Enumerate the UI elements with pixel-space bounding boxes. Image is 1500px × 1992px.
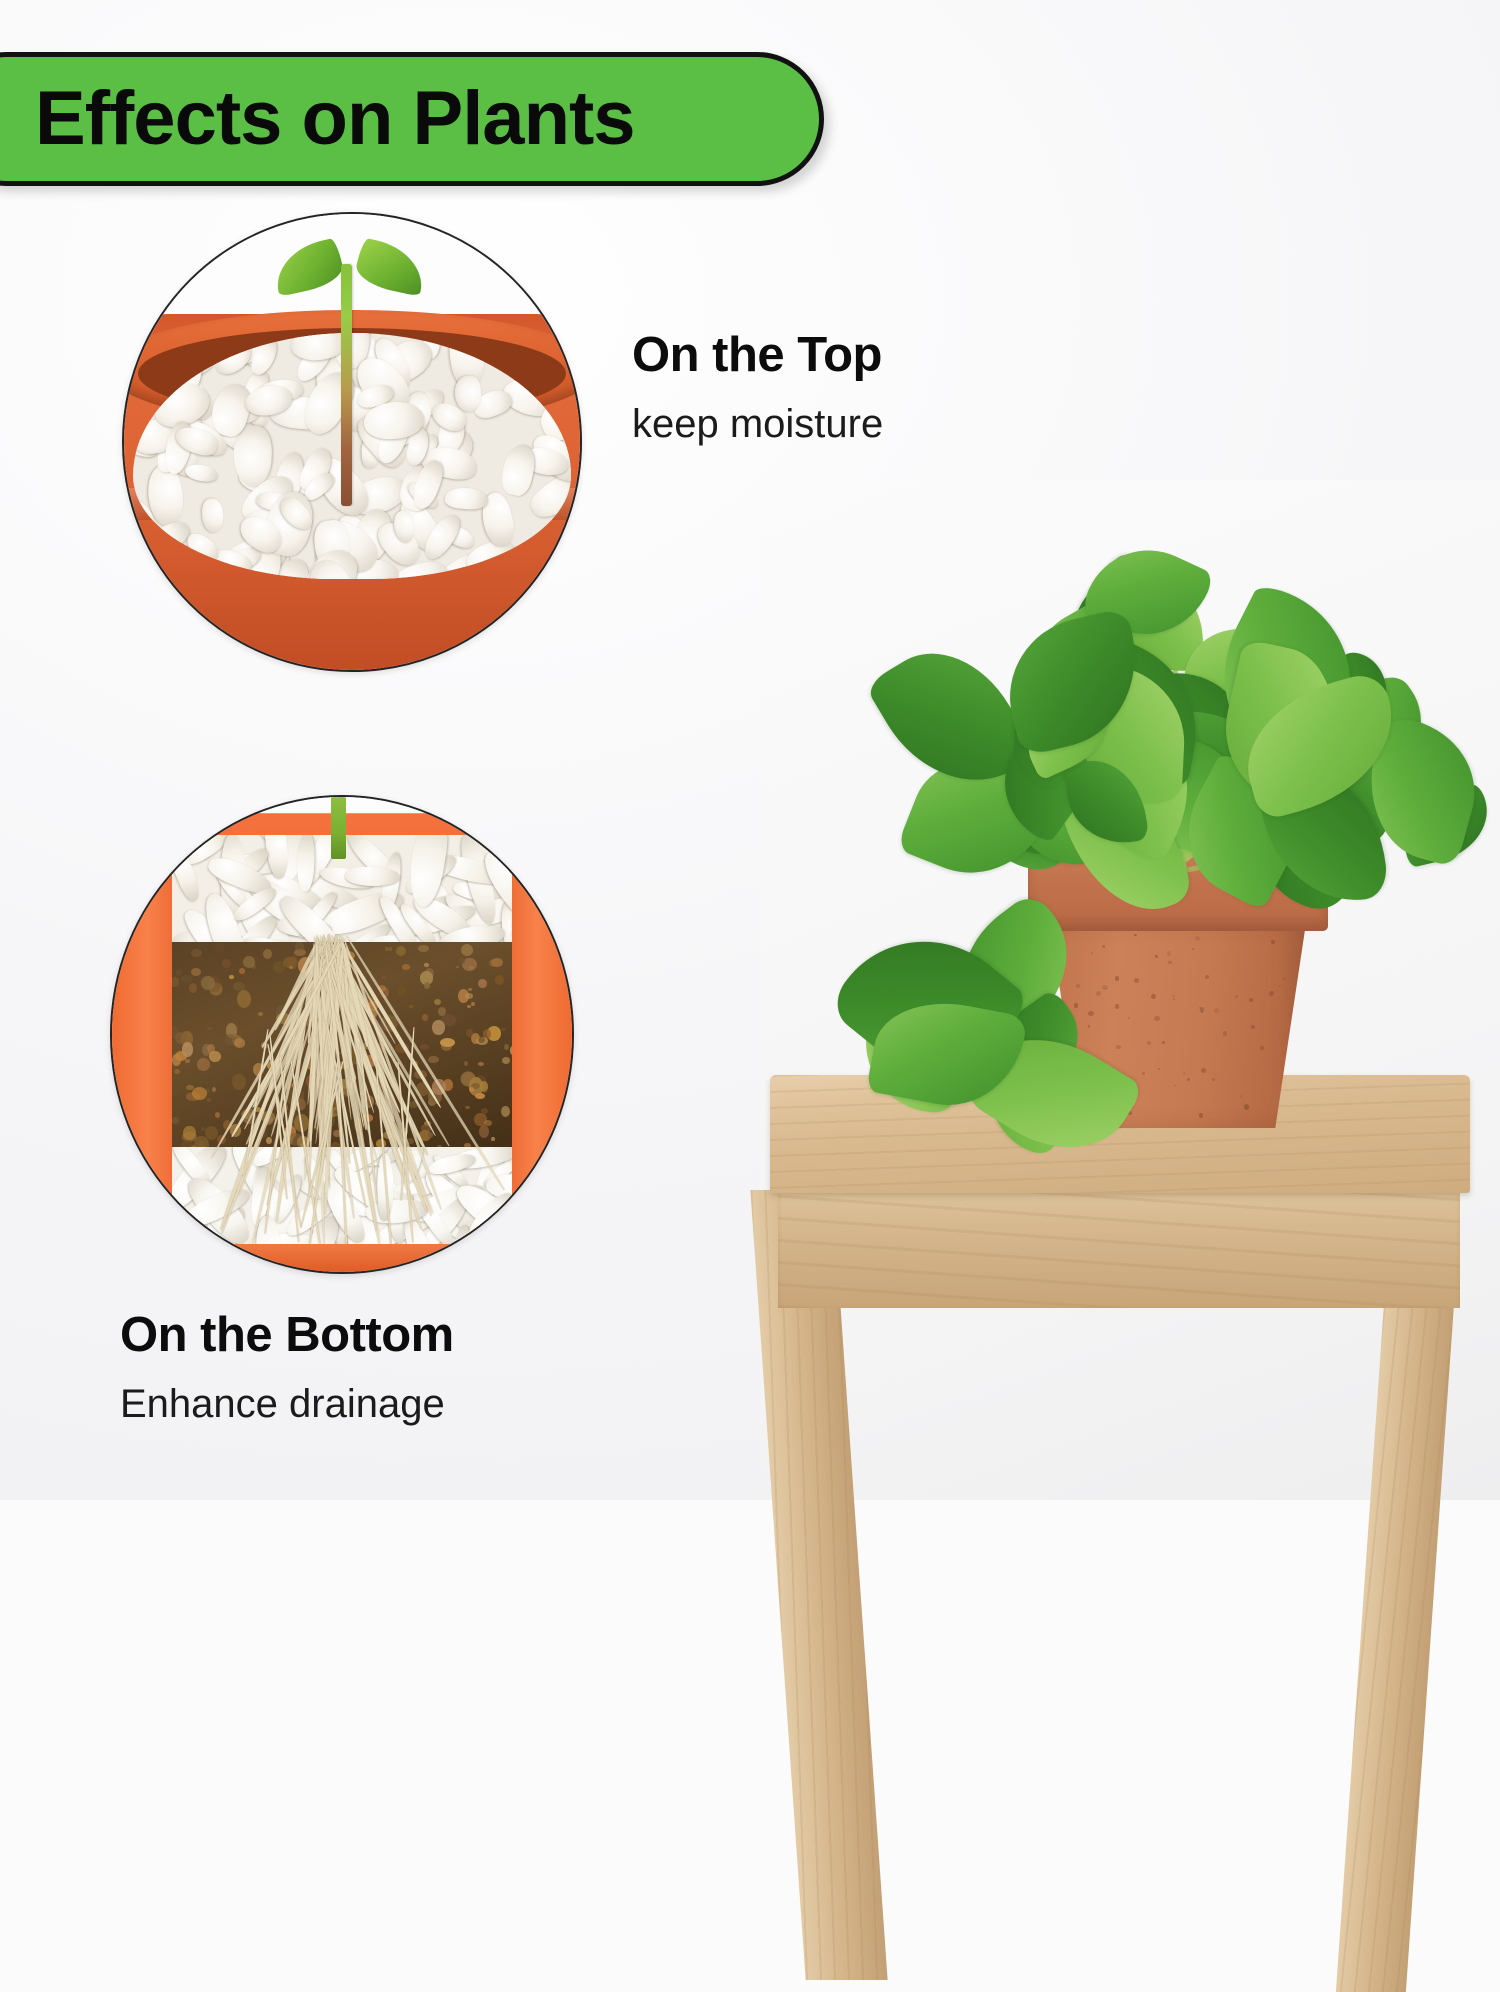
banner-label: Effects on Plants	[35, 81, 635, 157]
stool-apron	[778, 1190, 1460, 1308]
soil-grain	[215, 1112, 220, 1118]
soil-grain	[491, 1137, 494, 1141]
pot-speck	[1183, 1072, 1186, 1075]
soil-grain	[418, 945, 428, 952]
soil-grain	[185, 1059, 189, 1063]
pot-speck	[1201, 1068, 1206, 1073]
soil-grain	[197, 1058, 209, 1071]
soil-grain	[229, 975, 233, 979]
pot-speck	[1155, 955, 1158, 958]
caption-bottom-subtitle: Enhance drainage	[120, 1383, 454, 1425]
pot-speck	[1279, 985, 1281, 987]
soil-grain	[182, 1042, 193, 1056]
soil-grain	[458, 989, 469, 1003]
pot-speck	[1281, 1095, 1285, 1099]
pot-speck	[1283, 977, 1286, 980]
soil-grain	[191, 968, 201, 977]
pot-speck	[1134, 934, 1136, 936]
pot-speck	[1214, 1008, 1219, 1013]
soil-grain	[502, 1057, 510, 1064]
soil-grain	[501, 1106, 510, 1117]
pot-speck	[1240, 1095, 1242, 1097]
pot-speck	[1260, 1046, 1264, 1050]
pot-speck	[1212, 1078, 1215, 1081]
soil-grain	[239, 968, 244, 974]
soil-grain	[481, 1108, 489, 1115]
soil-grain	[189, 983, 198, 993]
pot-speck	[1102, 985, 1107, 990]
pebble	[524, 338, 544, 379]
caption-top: On the Top keep moisture	[632, 330, 883, 445]
soil-grain	[491, 958, 503, 967]
pot-speck	[1116, 1045, 1121, 1050]
soil-grain	[174, 1069, 180, 1074]
soil-grain	[243, 956, 255, 968]
soil-grain	[172, 1117, 179, 1123]
photo-pot-with-pebbles-on-top	[122, 212, 582, 672]
soil-grain	[258, 1012, 263, 1016]
soil-grain	[172, 1087, 180, 1094]
pot-speck	[1192, 948, 1194, 950]
pot-speck	[1251, 1025, 1256, 1030]
pot-speck	[1142, 1072, 1145, 1075]
pot-speck	[1115, 976, 1119, 980]
photo-plant-on-stool	[760, 480, 1500, 1500]
soil-grain	[263, 949, 271, 959]
pot-speck	[1223, 1031, 1227, 1035]
caption-bottom-title: On the Bottom	[120, 1310, 454, 1361]
soil-grain	[233, 982, 245, 991]
soil-grain	[385, 947, 390, 951]
soil-grain	[183, 1126, 195, 1140]
soil-grain	[420, 1044, 429, 1050]
soil-grain	[469, 1087, 473, 1092]
soil-grain	[295, 942, 304, 950]
soil-grain	[212, 1087, 216, 1092]
soil-grain	[424, 982, 430, 988]
pot-speck	[1154, 1016, 1159, 1021]
pot-speck	[1088, 1011, 1093, 1016]
soil-grain	[397, 986, 406, 996]
pot-speck	[1269, 991, 1274, 996]
pot-speck	[1115, 1004, 1120, 1009]
pot-speck	[1174, 1085, 1176, 1087]
pot-speck	[1158, 1068, 1160, 1070]
pot-speck	[1285, 1082, 1287, 1084]
pot-base	[112, 1244, 572, 1273]
pot-speck	[1187, 1078, 1190, 1081]
pot-speck	[1128, 1017, 1130, 1019]
soil-grain	[475, 1093, 485, 1100]
pot-speck	[1091, 952, 1093, 954]
pot-speck	[1162, 1041, 1165, 1044]
pot-speck	[1096, 991, 1101, 996]
pebble	[184, 461, 220, 483]
soil-grain	[201, 976, 215, 990]
soil-grain	[266, 1137, 272, 1144]
soil-grain	[471, 1002, 475, 1006]
soil-grain	[501, 1028, 506, 1031]
pot-speck	[1205, 975, 1209, 979]
soil-grain	[504, 1044, 509, 1050]
soil-grain	[222, 959, 232, 968]
pot-speck	[1147, 1041, 1151, 1045]
caption-top-subtitle: keep moisture	[632, 403, 883, 445]
pot-speck	[1168, 961, 1171, 964]
soil-grain	[464, 1061, 468, 1066]
soil-grain	[456, 966, 459, 969]
pot-speck	[1249, 998, 1253, 1002]
soil-grain	[483, 1090, 487, 1093]
soil-grain	[181, 975, 193, 983]
pebble	[202, 499, 224, 533]
pot-speck	[1201, 1011, 1203, 1013]
soil-grain	[478, 1062, 484, 1066]
pot-speck	[1167, 951, 1172, 956]
soil-grain	[176, 969, 182, 977]
soil-grain	[232, 1074, 246, 1090]
soil-grain	[409, 1005, 412, 1008]
soil-grain	[192, 1087, 207, 1100]
pot-speck	[1271, 940, 1275, 944]
pot-speck	[1134, 978, 1139, 983]
soil-grain	[478, 979, 486, 988]
pot-speck	[1199, 1113, 1203, 1117]
pot-speck	[1076, 984, 1080, 988]
pot-speck	[1195, 936, 1200, 941]
pot-speck	[1151, 994, 1156, 999]
pot-cross-section-core	[172, 835, 512, 1263]
soil-grain	[191, 949, 201, 957]
soil-grain	[495, 975, 504, 984]
pot-speck	[1173, 998, 1175, 1000]
soil-grain	[209, 1051, 222, 1062]
pot-speck	[1244, 1104, 1249, 1109]
pot-speck	[1074, 1003, 1079, 1008]
soil-grain	[207, 1098, 211, 1102]
pot-speck	[1102, 945, 1105, 948]
soil-grain	[440, 1038, 454, 1047]
soil-grain	[468, 988, 472, 991]
seedling-stem	[341, 264, 352, 506]
soil-grain	[461, 944, 473, 956]
soil-grain	[434, 999, 441, 1005]
banner-effects-on-plants: Effects on Plants	[0, 52, 824, 186]
soil-grain	[432, 1020, 444, 1035]
soil-grain	[172, 1054, 181, 1066]
soil-grain	[402, 964, 410, 970]
soil-grain	[172, 977, 179, 986]
soil-grain	[510, 1044, 512, 1056]
soil-grain	[467, 1005, 471, 1008]
soil-grain	[422, 1014, 428, 1021]
pebble	[233, 425, 272, 487]
poster-canvas: Effects on Plants On the Top keep moistu…	[0, 0, 1500, 1500]
soil-grain	[466, 1029, 472, 1037]
soil-grain	[389, 947, 393, 951]
pebble	[444, 486, 488, 510]
photo-pot-cross-section	[110, 795, 574, 1274]
plant-stem	[331, 797, 347, 859]
pot-speck	[1282, 1074, 1287, 1079]
soil-grain	[428, 1056, 439, 1063]
soil-grain	[396, 946, 406, 956]
pot-speck	[1173, 995, 1175, 997]
soil-grain	[237, 990, 251, 1008]
soil-grain	[207, 1027, 212, 1031]
soil-grain	[234, 1038, 245, 1048]
pot-speck	[1235, 995, 1238, 998]
soil-grain	[465, 1106, 471, 1110]
soil-grain	[479, 1125, 489, 1138]
pot-speck	[1088, 1025, 1091, 1028]
caption-top-title: On the Top	[632, 330, 883, 381]
soil-grain	[215, 943, 224, 952]
soil-grain	[382, 975, 386, 979]
soil-grain	[424, 963, 430, 967]
caption-bottom: On the Bottom Enhance drainage	[120, 1310, 454, 1425]
